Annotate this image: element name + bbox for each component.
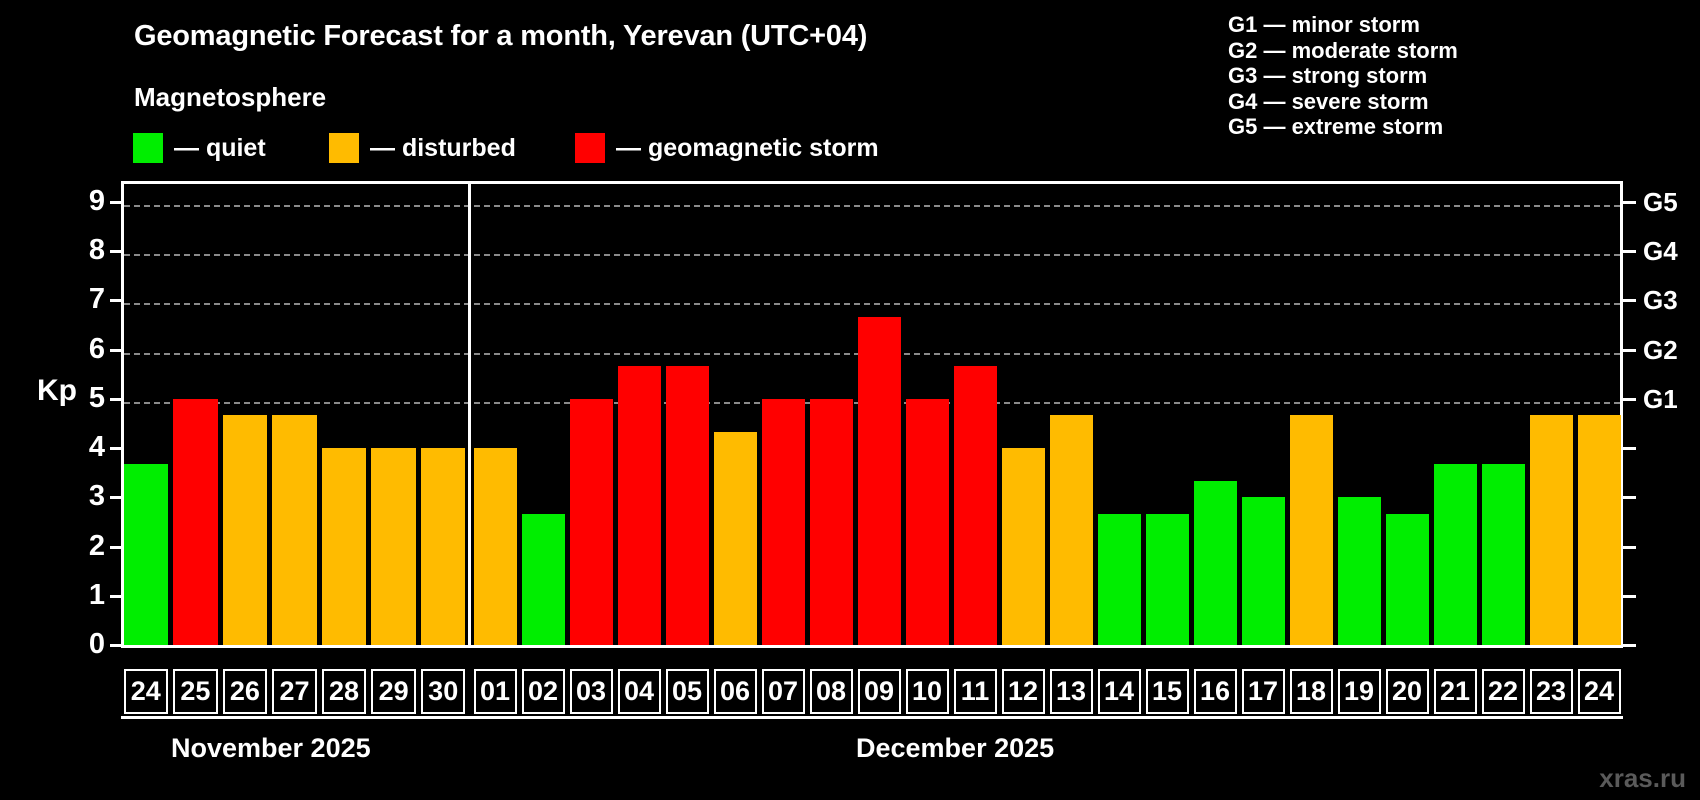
legend-entry-quiet: — quiet bbox=[133, 132, 266, 164]
day-label-15: 09 bbox=[858, 669, 901, 714]
axis-baseline bbox=[121, 645, 1623, 648]
y-tick-label-3: 3 bbox=[89, 482, 105, 511]
day-axis-rule bbox=[121, 716, 1623, 719]
day-label-24: 18 bbox=[1290, 669, 1333, 714]
plot-frame bbox=[121, 181, 1623, 648]
day-label-1: 25 bbox=[173, 669, 218, 714]
y-tick-label-2: 2 bbox=[89, 532, 105, 561]
y-tick-label-0: 0 bbox=[89, 630, 105, 659]
y-tick-label-8: 8 bbox=[89, 236, 105, 265]
legend-entry-disturbed: — disturbed bbox=[329, 132, 516, 164]
day-label-7: 01 bbox=[474, 669, 517, 714]
day-label-28: 22 bbox=[1482, 669, 1525, 714]
g-scale-row-g3: G3 — strong storm bbox=[1228, 63, 1458, 89]
day-label-19: 13 bbox=[1050, 669, 1093, 714]
legend-label-disturbed: — disturbed bbox=[370, 134, 516, 163]
watermark: xras.ru bbox=[1599, 763, 1686, 794]
day-label-17: 11 bbox=[954, 669, 997, 714]
day-label-0: 24 bbox=[124, 669, 169, 714]
right-tick-kp-0 bbox=[1622, 644, 1636, 647]
right-tick-kp-9 bbox=[1622, 201, 1636, 204]
day-label-14: 08 bbox=[810, 669, 853, 714]
y-tick-label-9: 9 bbox=[89, 187, 105, 216]
month-caption-december: December 2025 bbox=[856, 733, 1054, 764]
y-tick-4 bbox=[110, 447, 122, 450]
day-label-12: 06 bbox=[714, 669, 757, 714]
day-label-27: 21 bbox=[1434, 669, 1477, 714]
y-tick-0 bbox=[110, 644, 122, 647]
right-tick-kp-6 bbox=[1622, 349, 1636, 352]
legend-swatch-disturbed-icon bbox=[329, 133, 359, 163]
day-label-8: 02 bbox=[522, 669, 565, 714]
y-tick-6 bbox=[110, 349, 122, 352]
y-tick-label-1: 1 bbox=[89, 581, 105, 610]
day-label-30: 24 bbox=[1578, 669, 1621, 714]
day-label-26: 20 bbox=[1386, 669, 1429, 714]
page-title: Geomagnetic Forecast for a month, Yereva… bbox=[134, 20, 867, 53]
y-tick-label-5: 5 bbox=[89, 384, 105, 413]
day-label-4: 28 bbox=[322, 669, 367, 714]
g-scale-legend: G1 — minor stormG2 — moderate stormG3 — … bbox=[1228, 12, 1458, 140]
y-tick-1 bbox=[110, 595, 122, 598]
y-axis-title: Kp bbox=[37, 374, 77, 408]
legend-swatch-quiet-icon bbox=[133, 133, 163, 163]
gridline-kp-5 bbox=[124, 402, 1620, 404]
day-label-25: 19 bbox=[1338, 669, 1381, 714]
plot-gridlines bbox=[124, 184, 1620, 648]
y-tick-8 bbox=[110, 250, 122, 253]
y-tick-7 bbox=[110, 299, 122, 302]
y-tick-2 bbox=[110, 546, 122, 549]
g-axis-label-g5: G5 bbox=[1643, 189, 1678, 215]
gridline-kp-7 bbox=[124, 303, 1620, 305]
legend-label-quiet: — quiet bbox=[174, 134, 266, 163]
day-label-16: 10 bbox=[906, 669, 949, 714]
day-label-22: 16 bbox=[1194, 669, 1237, 714]
month-caption-november: November 2025 bbox=[171, 733, 371, 764]
gridline-kp-8 bbox=[124, 254, 1620, 256]
magnetosphere-label: Magnetosphere bbox=[134, 82, 326, 113]
right-tick-kp-5 bbox=[1622, 398, 1636, 401]
day-label-18: 12 bbox=[1002, 669, 1045, 714]
day-label-2: 26 bbox=[223, 669, 268, 714]
day-label-13: 07 bbox=[762, 669, 805, 714]
g-scale-row-g5: G5 — extreme storm bbox=[1228, 114, 1458, 140]
day-label-23: 17 bbox=[1242, 669, 1285, 714]
day-label-20: 14 bbox=[1098, 669, 1141, 714]
gridline-kp-9 bbox=[124, 205, 1620, 207]
day-label-21: 15 bbox=[1146, 669, 1189, 714]
g-scale-row-g1: G1 — minor storm bbox=[1228, 12, 1458, 38]
g-scale-row-g4: G4 — severe storm bbox=[1228, 89, 1458, 115]
right-tick-kp-4 bbox=[1622, 447, 1636, 450]
y-tick-label-7: 7 bbox=[89, 285, 105, 314]
y-tick-3 bbox=[110, 496, 122, 499]
legend-entry-geomagnetic-storm: — geomagnetic storm bbox=[575, 132, 879, 164]
right-tick-kp-7 bbox=[1622, 299, 1636, 302]
gridline-kp-6 bbox=[124, 353, 1620, 355]
y-tick-label-4: 4 bbox=[89, 433, 105, 462]
day-label-9: 03 bbox=[570, 669, 613, 714]
right-tick-kp-8 bbox=[1622, 250, 1636, 253]
g-axis-label-g3: G3 bbox=[1643, 287, 1678, 313]
day-label-10: 04 bbox=[618, 669, 661, 714]
day-label-5: 29 bbox=[371, 669, 416, 714]
g-scale-row-g2: G2 — moderate storm bbox=[1228, 38, 1458, 64]
y-tick-5 bbox=[110, 398, 122, 401]
day-label-11: 05 bbox=[666, 669, 709, 714]
y-tick-label-6: 6 bbox=[89, 335, 105, 364]
g-axis-label-g1: G1 bbox=[1643, 386, 1678, 412]
right-tick-kp-2 bbox=[1622, 546, 1636, 549]
day-label-3: 27 bbox=[272, 669, 317, 714]
right-tick-kp-1 bbox=[1622, 595, 1636, 598]
right-tick-kp-3 bbox=[1622, 496, 1636, 499]
legend-label-geomagnetic-storm: — geomagnetic storm bbox=[616, 134, 879, 163]
g-axis-label-g4: G4 bbox=[1643, 238, 1678, 264]
legend-swatch-geomagnetic-storm-icon bbox=[575, 133, 605, 163]
y-tick-9 bbox=[110, 201, 122, 204]
day-label-29: 23 bbox=[1530, 669, 1573, 714]
day-label-6: 30 bbox=[421, 669, 466, 714]
month-divider bbox=[468, 181, 471, 648]
g-axis-label-g2: G2 bbox=[1643, 337, 1678, 363]
